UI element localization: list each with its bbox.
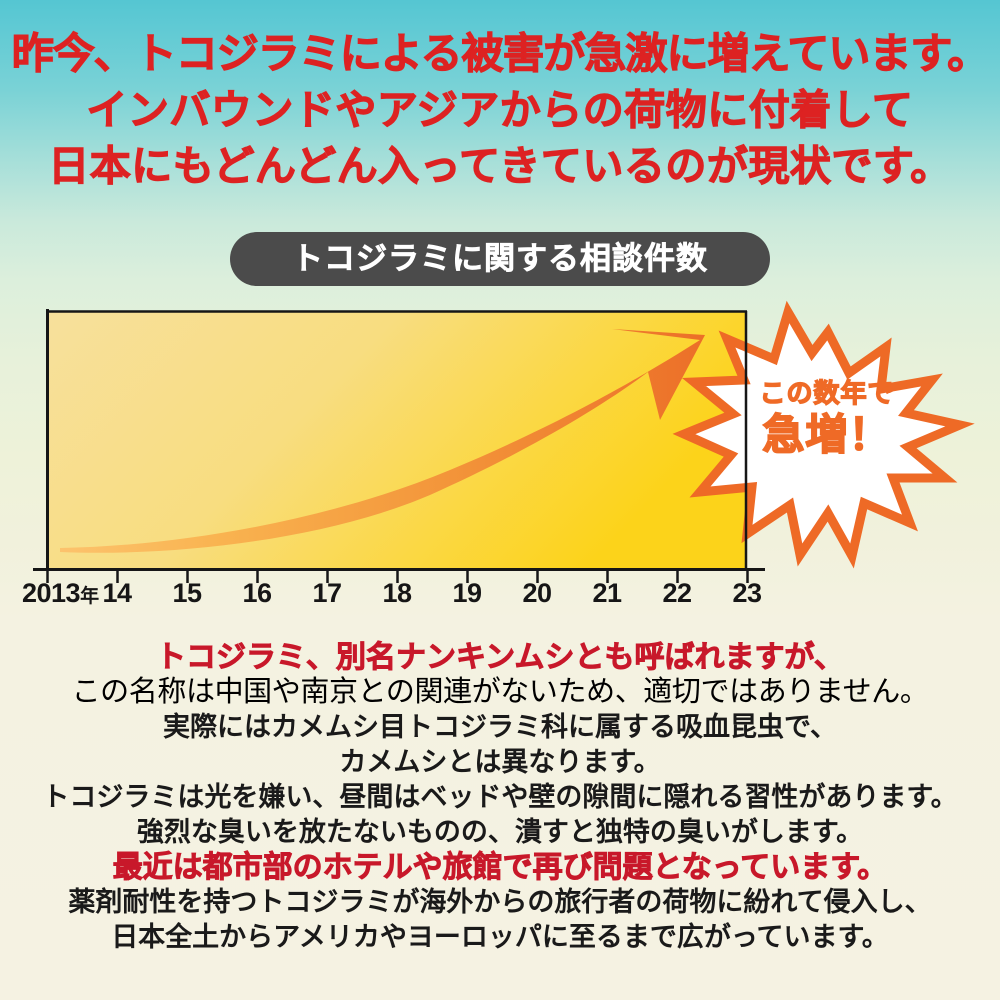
poster-canvas: 昨今、トコジラミによる被害が急激に増えています。 インバウンドやアジアからの荷物…	[0, 0, 1000, 1000]
body-line-3: 実際にはカメムシ目トコジラミ科に属する吸血昆虫で、	[0, 710, 1000, 745]
x-axis-label-22: 22	[662, 578, 691, 609]
body-line-1: トコジラミ、別名ナンキンムシとも呼ばれますが、	[0, 640, 1000, 675]
x-axis-label-23: 23	[732, 578, 761, 609]
x-axis-label-15: 15	[172, 578, 201, 609]
x-axis-labels: 2013年 14 15 16 17 18 19 20 21 22 23	[0, 578, 1000, 612]
body-copy: トコジラミ、別名ナンキンムシとも呼ばれますが、 この名称は中国や南京との関連がな…	[0, 640, 1000, 955]
plot-area	[47, 311, 747, 568]
body-line-6: 強烈な臭いを放たないものの、潰すと独特の臭いがします。	[0, 815, 1000, 850]
x-axis-label-20: 20	[522, 578, 551, 609]
x-axis-label-21: 21	[592, 578, 621, 609]
body-line-2: この名称は中国や南京との関連がないため、適切ではありません。	[0, 675, 1000, 710]
x-axis-label-14: 14	[102, 578, 131, 609]
x-axis-label-16: 16	[242, 578, 271, 609]
body-line-5: トコジラミは光を嫌い、昼間はベッドや壁の隙間に隠れる習性があります。	[0, 780, 1000, 815]
body-line-4: カメムシとは異なります。	[0, 745, 1000, 780]
x-axis-label-17: 17	[312, 578, 341, 609]
body-line-7: 最近は都市部のホテルや旅館で再び問題となっています。	[0, 850, 1000, 885]
body-line-8: 薬剤耐性を持つトコジラミが海外からの旅行者の荷物に紛れて侵入し、	[0, 885, 1000, 920]
x-axis-label-2013: 2013年	[22, 578, 99, 609]
body-line-9: 日本全土からアメリカやヨーロッパに至るまで広がっています。	[0, 920, 1000, 955]
x-axis-label-18: 18	[382, 578, 411, 609]
x-axis-label-19: 19	[452, 578, 481, 609]
